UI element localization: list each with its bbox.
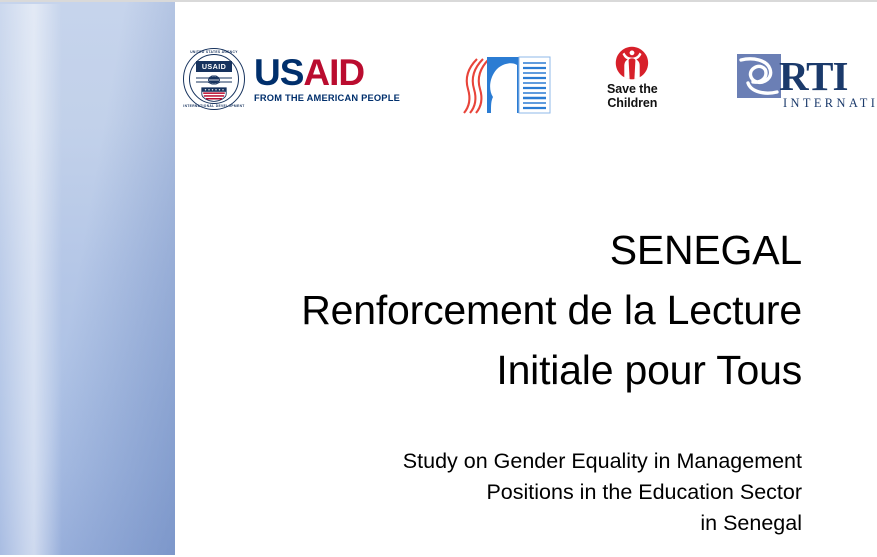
usaid-wordmark-aid: AID — [303, 52, 364, 93]
save-the-children-logo: Save the Children — [607, 46, 658, 110]
title-line-2: Renforcement de la Lecture — [175, 280, 802, 340]
reading-head-book-icon — [447, 51, 551, 119]
rti-swirl-icon — [737, 54, 781, 98]
top-hairline — [0, 0, 877, 2]
usaid-seal-box-label: USAID — [196, 61, 232, 72]
usaid-seal-icon: UNITED STATES AGENCY INTERNATIONAL DEVEL… — [183, 48, 245, 110]
usaid-shield-icon — [201, 87, 227, 102]
usaid-tagline: FROM THE AMERICAN PEOPLE — [254, 93, 400, 103]
stc-word-line2: Children — [607, 97, 658, 111]
subtitle-line-2: Positions in the Education Sector — [175, 477, 802, 508]
page-title: SENEGAL Renforcement de la Lecture Initi… — [175, 220, 802, 400]
title-line-3: Initiale pour Tous — [175, 340, 802, 400]
usaid-seal-ring-top-text: UNITED STATES AGENCY — [183, 50, 245, 54]
subtitle-line-3: in Senegal — [175, 508, 802, 539]
usaid-logo: UNITED STATES AGENCY INTERNATIONAL DEVEL… — [183, 48, 400, 110]
usaid-handshake-icon — [195, 74, 233, 86]
cover-content: UNITED STATES AGENCY INTERNATIONAL DEVEL… — [175, 2, 877, 555]
usaid-wordmark: USAID FROM THE AMERICAN PEOPLE — [254, 56, 400, 103]
title-line-1: SENEGAL — [175, 220, 802, 280]
rti-international-logo: RTI INTERNATIONAL — [737, 54, 877, 111]
usaid-seal-ring-bottom-text: INTERNATIONAL DEVELOPMENT — [183, 104, 245, 108]
partner-logo-row: UNITED STATES AGENCY INTERNATIONAL DEVEL… — [175, 38, 877, 132]
rti-top-row: RTI — [737, 54, 847, 98]
reading-literacy-logo — [447, 51, 551, 119]
rti-international-text: INTERNATIONAL — [783, 96, 877, 111]
save-the-children-child-icon — [615, 46, 649, 80]
subtitle-line-1: Study on Gender Equality in Management — [175, 446, 802, 477]
page-subtitle: Study on Gender Equality in Management P… — [175, 446, 802, 539]
stc-word-line1: Save the — [607, 83, 658, 97]
left-decorative-band — [0, 2, 175, 555]
usaid-wordmark-us: US — [254, 52, 303, 93]
band-light-streak — [0, 4, 62, 557]
rti-letters: RTI — [779, 56, 847, 96]
usaid-wordmark-text: USAID — [254, 56, 400, 90]
save-the-children-wordmark: Save the Children — [607, 83, 658, 110]
